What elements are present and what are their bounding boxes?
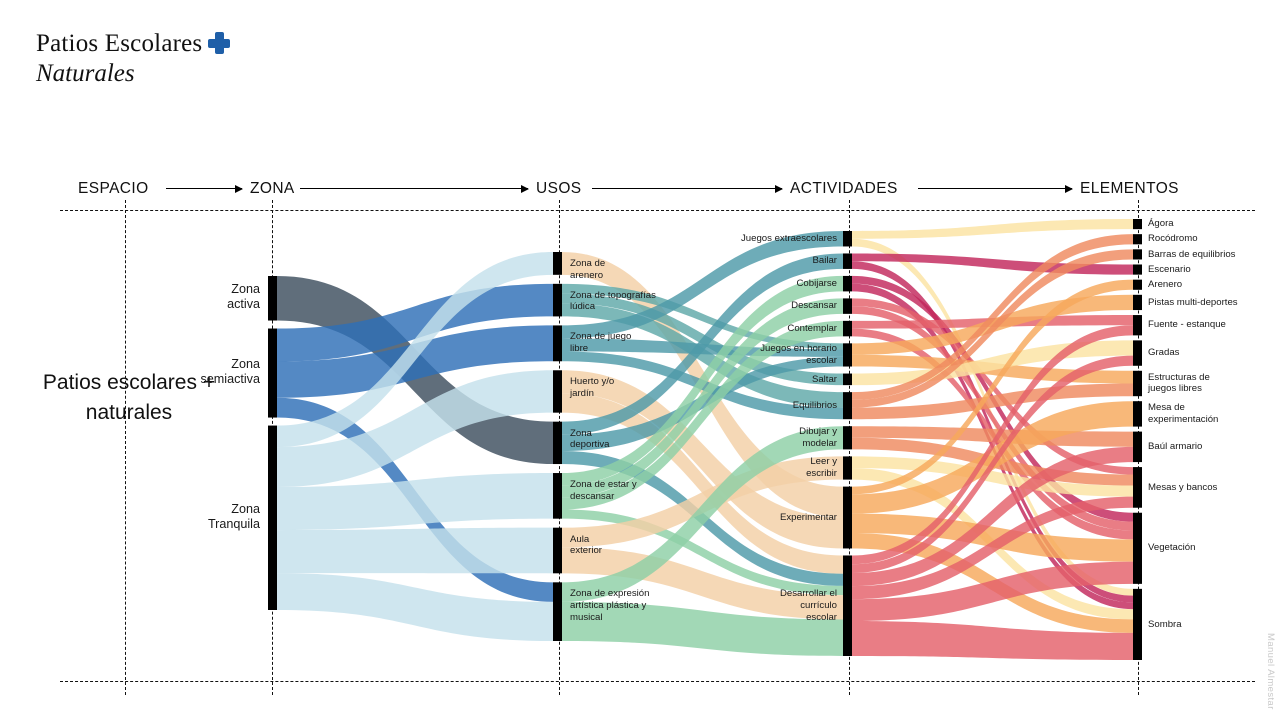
sankey-node-juego_libre[interactable] [553,325,562,361]
sankey-node-topografias[interactable] [553,284,562,317]
sankey-node-tranquila[interactable] [268,426,277,610]
usos-label-arenero: Zona de arenero [570,258,690,281]
actividades-label-dibujar: Dibujar y modelar [701,426,837,449]
sankey-node-arenero_e[interactable] [1133,280,1142,290]
elementos-label-estructuras: Estructuras de juegos libres [1148,372,1280,395]
sankey-node-gradas[interactable] [1133,340,1142,365]
zona-label-semiactiva: Zona semiactiva [140,357,260,387]
elementos-label-agora: Ágora [1148,218,1280,230]
sankey-node-arenero[interactable] [553,252,562,275]
sankey-node-pistas[interactable] [1133,295,1142,310]
sankey-node-fuente[interactable] [1133,315,1142,335]
sankey-node-escenario[interactable] [1133,264,1142,274]
elementos-label-mesa_exp: Mesa de experimentación [1148,402,1280,425]
sankey-node-equilibrios[interactable] [843,392,852,419]
sankey-node-baul[interactable] [1133,432,1142,462]
sankey-node-deportiva[interactable] [553,422,562,464]
usos-label-estar: Zona de estar y descansar [570,479,690,502]
elementos-label-gradas: Gradas [1148,347,1280,359]
sankey-link-tranquila-to-aula[interactable] [277,528,553,574]
sankey-diagram-page: Patios Escolares Naturales ESPACIO ZONA … [0,0,1280,720]
elementos-label-mesas: Mesas y bancos [1148,482,1280,494]
sankey-link-juegos_extra-to-agora[interactable] [852,219,1133,239]
actividades-label-saltar: Saltar [701,374,837,386]
sankey-node-estructuras[interactable] [1133,371,1142,396]
sankey-node-expresion[interactable] [553,582,562,641]
elementos-label-pistas: Pistas multi-deportes [1148,297,1280,309]
sankey-node-juegos_extra[interactable] [843,231,852,246]
sankey-node-estar[interactable] [553,473,562,519]
elementos-label-vegetacion: Vegetación [1148,542,1280,554]
elementos-label-barras: Barras de equilibrios [1148,249,1280,261]
sankey-node-aula[interactable] [553,528,562,574]
actividades-label-experimentar: Experimentar [701,512,837,524]
sankey-node-descansar[interactable] [843,298,852,313]
actividades-label-leer: Leer y escribir [701,456,837,479]
usos-label-huerto: Huerto y/o jardín [570,376,690,399]
elementos-label-escenario: Escenario [1148,264,1280,276]
actividades-label-curriculo: Desarrollar el currículo escolar [701,588,837,623]
usos-label-expresion: Zona de expresión artística plástica y m… [570,588,690,623]
sankey-node-semiactiva[interactable] [268,329,277,418]
actividades-label-equilibrios: Equilibrios [701,400,837,412]
usos-label-topografias: Zona de topografías lúdica [570,290,690,313]
sankey-node-curriculo[interactable] [843,555,852,656]
sankey-node-huerto[interactable] [553,370,562,412]
sankey-node-vegetacion[interactable] [1133,513,1142,584]
actividades-label-descansar: Descansar [701,300,837,312]
elementos-label-sombra: Sombra [1148,619,1280,631]
sankey-node-mesas[interactable] [1133,467,1142,508]
elementos-label-baul: Baúl armario [1148,441,1280,453]
usos-label-juego_libre: Zona de juego libre [570,331,690,354]
watermark: Manuel Almestar [1265,633,1276,710]
elementos-label-fuente: Fuente - estanque [1148,319,1280,331]
sankey-node-cobijarse[interactable] [843,276,852,291]
sankey-node-mesa_exp[interactable] [1133,401,1142,426]
zona-label-tranquila: Zona Tranquila [140,502,260,532]
sankey-node-bailar[interactable] [843,253,852,268]
actividades-label-cobijarse: Cobijarse [701,278,837,290]
actividades-label-bailar: Bailar [701,255,837,267]
sankey-node-sombra[interactable] [1133,589,1142,660]
zona-label-activa: Zona activa [140,282,260,312]
usos-label-aula: Aula exterior [570,534,690,557]
actividades-label-juegos_extra: Juegos extraescolares [701,233,837,245]
sankey-node-agora[interactable] [1133,219,1142,229]
sankey-node-saltar[interactable] [843,374,852,386]
actividades-label-contemplar: Contemplar [701,323,837,335]
elementos-label-rocodromo: Rocódromo [1148,233,1280,245]
sankey-node-activa[interactable] [268,276,277,321]
sankey-node-leer[interactable] [843,456,852,479]
sankey-node-experimentar[interactable] [843,487,852,549]
link-group-actividades-elementos [852,219,1133,660]
sankey-node-juegos_horario[interactable] [843,343,852,366]
actividades-label-juegos_horario: Juegos en horario escolar [701,343,837,366]
usos-label-deportiva: Zona deportiva [570,428,690,451]
elementos-label-arenero_e: Arenero [1148,279,1280,291]
link-group-zona-usos [277,252,553,641]
sankey-node-contemplar[interactable] [843,321,852,336]
sankey-node-rocodromo[interactable] [1133,234,1142,244]
sankey-node-dibujar[interactable] [843,426,852,449]
sankey-node-barras[interactable] [1133,249,1142,259]
